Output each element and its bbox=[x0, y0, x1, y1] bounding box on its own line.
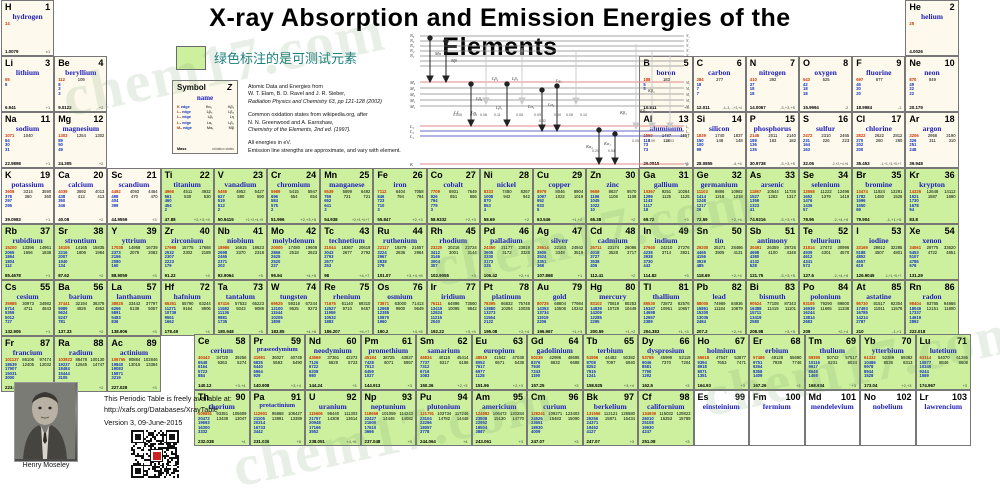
element-cell-tc[interactable]: Tc43technetium21044183672061930432677279… bbox=[320, 224, 373, 280]
element-name: magnesium bbox=[55, 124, 106, 133]
element-cell-ti[interactable]: Ti22titanium4966451149325615305304604542… bbox=[161, 168, 214, 224]
element-cell-bi[interactable]: Bi83bismuth90524771088734316388114191110… bbox=[746, 280, 799, 336]
element-cell-no[interactable]: No102nobelium bbox=[860, 390, 916, 446]
xray-energy-lines: 40443347203925665485363527461645723884 bbox=[198, 356, 247, 379]
xray-line-row: 1027 bbox=[365, 374, 414, 379]
oxidation-states: +3 bbox=[574, 383, 579, 388]
qr-module bbox=[169, 468, 171, 470]
element-symbol: Ta bbox=[218, 282, 228, 292]
atomic-mass: 51.996 bbox=[271, 217, 284, 222]
xray-energy-lines: 1265811222124961652137914191476143657 bbox=[803, 190, 849, 213]
atomic-number: 81 bbox=[679, 282, 689, 292]
xray-line-row: 1292 bbox=[642, 374, 691, 379]
element-name: neon bbox=[906, 68, 957, 77]
oxidation-states: +4 bbox=[463, 439, 468, 444]
atomic-mass: 44.9559 bbox=[111, 217, 127, 222]
atomic-mass: 174.967 bbox=[920, 383, 936, 388]
atomic-mass: 58.69 bbox=[484, 217, 495, 222]
element-cell-kr[interactable]: Kr36krypton14326126481411219211587169017… bbox=[905, 168, 958, 224]
oxidation-states: +2,+3,+4,+5 bbox=[246, 218, 263, 222]
xray-energy-lines: 9659863795701196110811081045102210 bbox=[590, 190, 636, 213]
qr-module bbox=[162, 472, 164, 474]
element-name: californium bbox=[639, 402, 693, 411]
element-cell-s[interactable]: S16sulfur24722310246523122622316416332.0… bbox=[799, 112, 852, 168]
element-symbol: Ag bbox=[537, 226, 549, 236]
energy-level-diagram: N₅N₄N₃ N₂N₁ M₅M₄M₃ M₂M₁ L₃L₂L₁ K MαMβ Lℓ… bbox=[408, 30, 698, 170]
xray-energy-lines: 31814274723099649394301457046124341573 bbox=[803, 246, 849, 269]
element-cell-pu[interactable]: Pu94plutonium121791103734117246231041478… bbox=[416, 390, 472, 446]
element-cell-bk[interactable]: Bk97berkelium131556112121126580252561587… bbox=[583, 390, 639, 446]
element-cell-ge[interactable]: Ge32germanium111039886109821414121812181… bbox=[693, 168, 746, 224]
svg-text:Kβ₃: Kβ₃ bbox=[619, 110, 627, 115]
element-cell-lu[interactable]: Lu71lutetium6331454070612861087788468608… bbox=[916, 334, 972, 390]
xray-line-row: 69 bbox=[856, 208, 902, 213]
element-cell-co[interactable]: Co27cobalt770969317649926851866794779358… bbox=[427, 168, 480, 224]
atomic-number: 87 bbox=[40, 338, 50, 348]
xray-energy-lines: 26711231742609540183528371737273538405 bbox=[590, 246, 636, 269]
xray-line-row: 134 bbox=[58, 264, 104, 269]
xray-energy-lines: 20000174801960828662518262326252520227 bbox=[271, 246, 317, 269]
availability-url[interactable]: http://xafs.org/Databases/XrayTable bbox=[104, 404, 274, 415]
svg-text:0.09: 0.09 bbox=[534, 113, 541, 117]
svg-text:K: K bbox=[685, 163, 689, 167]
element-cell-u[interactable]: U92uranium115606984401113032175714309136… bbox=[305, 390, 361, 446]
element-symbol: K bbox=[5, 170, 12, 180]
element-cell-li[interactable]: Li3lithium5556.941+1 bbox=[1, 56, 54, 112]
svg-text:Lα₁: Lα₁ bbox=[547, 102, 555, 107]
element-symbol: Ca bbox=[58, 170, 70, 180]
xray-line-row: 57 bbox=[803, 208, 849, 213]
atomic-number: 44 bbox=[413, 226, 423, 236]
element-cell-pd[interactable]: Pd46palladium243502117723819360531723328… bbox=[480, 224, 533, 280]
element-cell-ag[interactable]: Ag47silver255142216324942380633483519352… bbox=[533, 224, 586, 280]
element-cell-ga[interactable]: Ga31gallium10367925110264129911251125114… bbox=[639, 168, 692, 224]
qr-module bbox=[177, 476, 179, 478]
element-cell-cu[interactable]: Cu29copper897980468904109710221019952933… bbox=[533, 168, 586, 224]
oxidation-states: +2 bbox=[99, 161, 104, 166]
xray-energy-lines: 22117192792165732242836296429672838279 bbox=[377, 246, 423, 269]
element-symbol: Xe bbox=[909, 226, 920, 236]
element-cell-k[interactable]: K19potassium3608331435903783603602972953… bbox=[1, 168, 54, 224]
xray-line-row: 3105 bbox=[58, 376, 104, 381]
element-name: indium bbox=[640, 236, 691, 245]
element-cell-at[interactable]: At85astatine9573081517923041749311911115… bbox=[852, 280, 905, 336]
element-symbol: Mg bbox=[58, 114, 71, 124]
element-cell-ac[interactable]: Ac89actinium1067559088410284619840130151… bbox=[107, 336, 160, 392]
atomic-number: 24 bbox=[306, 170, 316, 180]
element-symbol: Tm bbox=[809, 336, 823, 346]
xray-line-row: 112 bbox=[5, 264, 51, 269]
atomic-mass: 95.94 bbox=[271, 273, 282, 278]
element-symbol: Na bbox=[5, 114, 17, 124]
element-cell-ta[interactable]: Ta73tantalum6741657532652231168293439088… bbox=[214, 280, 267, 336]
element-name: ruthenium bbox=[374, 236, 425, 245]
element-cell-lr[interactable]: Lr103lawrencium bbox=[916, 390, 972, 446]
element-cell-be[interactable]: Be4beryllium1121098339.0122+2 bbox=[54, 56, 107, 112]
element-cell-n[interactable]: N7nitrogen41039237181814.0067-3,+3,+5 bbox=[746, 56, 799, 112]
xray-energy-lines: 6741657532652231168293439088111369881173… bbox=[218, 302, 264, 325]
atomic-number: 82 bbox=[732, 282, 742, 292]
element-symbol: Fm bbox=[753, 392, 767, 402]
xray-energy-lines: 1217911037341172462310414782144482226618… bbox=[420, 412, 469, 435]
atomic-mass: 126.9045 bbox=[856, 273, 874, 278]
element-cell-eu[interactable]: Eu63europium4851941542470388052657164387… bbox=[472, 334, 528, 390]
element-symbol: Rb bbox=[5, 226, 17, 236]
element-name: actinium bbox=[108, 348, 159, 357]
element-cell-hg[interactable]: Hg80mercury83102708198025314839107291044… bbox=[586, 280, 639, 336]
xray-line-row: 676 bbox=[909, 264, 955, 269]
element-cell-pb[interactable]: Pb82lead88005749698493615861111841087915… bbox=[693, 280, 746, 336]
atomic-number: 68 bbox=[790, 336, 800, 346]
xray-energy-lines: 7611164896735601341910095984212824112152… bbox=[431, 302, 477, 325]
atomic-number: 23 bbox=[253, 170, 263, 180]
element-symbol: La bbox=[111, 282, 122, 292]
element-symbol: Sb bbox=[750, 226, 762, 236]
element-cell-fm[interactable]: Fm100fermium bbox=[749, 390, 805, 446]
element-cell-f[interactable]: F9fluorine69767745202018.9984-1 bbox=[852, 56, 905, 112]
atomic-mass: 55.847 bbox=[377, 217, 390, 222]
xray-energy-lines: 25 bbox=[909, 22, 955, 27]
element-cell-pr[interactable]: Pr59praseodymium419913602740749683555935… bbox=[250, 334, 306, 390]
atomic-number: 73 bbox=[253, 282, 263, 292]
oxidation-states: -2,+4,+6 bbox=[833, 217, 848, 222]
atomic-mass: 131.29 bbox=[909, 273, 922, 278]
atomic-mass: 14.0067 bbox=[750, 105, 766, 110]
oxidation-states: +4 bbox=[241, 439, 246, 444]
element-cell-o[interactable]: O8oxygen54352542181815.9994-2 bbox=[799, 56, 852, 112]
element-name: copper bbox=[534, 180, 585, 189]
oxidation-states: +3 bbox=[352, 383, 357, 388]
oxidation-states: +2,+3 bbox=[513, 383, 523, 388]
xray-energy-lines: 1156069844011130321757143091361420948171… bbox=[309, 412, 358, 435]
oxidation-states: +2 bbox=[631, 273, 636, 278]
oxidation-states: +3 bbox=[471, 273, 476, 278]
xray-line-row: 227 bbox=[271, 264, 317, 269]
atomic-number: 3 bbox=[45, 58, 50, 68]
atomic-number: 34 bbox=[838, 170, 848, 180]
atomic-number: 78 bbox=[519, 282, 529, 292]
atomic-number: 29 bbox=[572, 170, 582, 180]
atomic-mass: 83.8 bbox=[909, 217, 918, 222]
element-cell-pt[interactable]: Pt78platinum7839566832757481388010294100… bbox=[480, 280, 533, 336]
element-cell-br[interactable]: Br35bromine13474119241329117821480152615… bbox=[852, 168, 905, 224]
element-symbol: Re bbox=[324, 282, 336, 292]
element-symbol: Np bbox=[365, 392, 377, 402]
xray-energy-lines: 1282411092711234032452615483150902365118… bbox=[531, 412, 580, 435]
element-cell-si[interactable]: Si14silicon1839174018371501481481009928.… bbox=[693, 112, 746, 168]
xray-energy-lines: 6539589964927697217216526413 bbox=[324, 190, 370, 213]
atomic-number: 72 bbox=[200, 282, 210, 292]
atomic-number: 76 bbox=[413, 282, 423, 292]
atomic-number: 48 bbox=[625, 226, 635, 236]
atomic-number: 37 bbox=[40, 226, 50, 236]
oxidation-states: +2,+4 bbox=[732, 217, 742, 222]
testable-elements-note: 绿色标注的是可测试元素 bbox=[214, 48, 357, 67]
element-cell-gd[interactable]: Gd64gadolinium50239429964869583766832668… bbox=[527, 334, 583, 390]
atomic-mass: 18.9984 bbox=[856, 105, 872, 110]
xray-energy-lines: 1249821064721202842380815130147702295218… bbox=[476, 412, 525, 435]
xray-line-row: 25 bbox=[909, 22, 955, 27]
atomic-mass: 91.22 bbox=[165, 273, 176, 278]
element-name: nickel bbox=[481, 180, 532, 189]
element-cell-ce[interactable]: Ce58cerium404433472039256654853635274616… bbox=[194, 334, 250, 390]
oxidation-states: +5 bbox=[258, 273, 263, 278]
xray-energy-lines: 8072568804779841435310508102421373411919… bbox=[537, 302, 583, 325]
atomic-number: 36 bbox=[945, 170, 955, 180]
atomic-number: 85 bbox=[891, 282, 901, 292]
element-cell-cm[interactable]: Cm96curium128241109271123403245261548315… bbox=[527, 390, 583, 446]
element-symbol: Pt bbox=[484, 282, 493, 292]
oxidation-states: +2,+3,+6 bbox=[300, 217, 316, 222]
atomic-number: 56 bbox=[93, 282, 103, 292]
element-cell-nd[interactable]: Nd60neodymium435693736142272712658295723… bbox=[305, 334, 361, 390]
element-cell-p[interactable]: P15phosphorus214620112140189183182136135… bbox=[746, 112, 799, 168]
element-cell-es[interactable]: Es99einsteinium bbox=[694, 390, 750, 446]
element-cell-po[interactable]: Po84polonium9310579290898001693911665113… bbox=[799, 280, 852, 336]
atomic-mass: 40.08 bbox=[58, 217, 69, 222]
atomic-number: 50 bbox=[732, 226, 742, 236]
svg-text:N₁: N₁ bbox=[409, 53, 415, 58]
element-cell-ho[interactable]: Ho67holmium55618475475387793947653747189… bbox=[694, 334, 750, 390]
xray-energy-lines: 5939050742575171011682318024961786481468 bbox=[809, 356, 858, 379]
element-symbol: Tc bbox=[324, 226, 334, 236]
element-cell-tm[interactable]: Tm69thulium59390507425751710116823180249… bbox=[805, 334, 861, 390]
element-cell-cl[interactable]: Cl17chlorine2822262228122702602602022003… bbox=[852, 112, 905, 168]
element-cell-sr[interactable]: Sr38strontium161051416515835221618061984… bbox=[54, 224, 107, 280]
svg-text:L₂: L₂ bbox=[685, 130, 690, 134]
element-symbol: Mn bbox=[324, 170, 337, 180]
xray-line-row: 3 bbox=[58, 92, 104, 97]
element-name: promethium bbox=[362, 346, 416, 355]
atomic-number: 67 bbox=[735, 336, 745, 346]
oxidation-states: +1 bbox=[46, 329, 51, 334]
element-name: rhodium bbox=[428, 236, 479, 245]
oxidation-states: +3 bbox=[152, 385, 157, 390]
element-cell-h[interactable]: H1hydrogen141.0079±1 bbox=[1, 0, 54, 56]
element-symbol: U bbox=[309, 392, 316, 402]
element-cell-rh[interactable]: Rh45rhodium23220202162272434123001314431… bbox=[427, 224, 480, 280]
element-cell-nb[interactable]: Nb41niobium18986166151862326982370231824… bbox=[214, 224, 267, 280]
xray-line-row: 29 bbox=[697, 208, 743, 213]
element-cell-dy[interactable]: Dy66dysprosium53789459995211990467370720… bbox=[638, 334, 694, 390]
xray-line-row: 279 bbox=[377, 264, 423, 269]
element-symbol: Tb bbox=[587, 336, 598, 346]
element-cell-w[interactable]: W74tungsten69525593186724412100952592731… bbox=[267, 280, 320, 336]
element-cell-te[interactable]: Te52tellurium318142747230996493943014570… bbox=[799, 224, 852, 280]
element-cell-v[interactable]: V23vanadium54654952542762759059051951225… bbox=[214, 168, 267, 224]
element-name: argon bbox=[906, 124, 957, 133]
element-cell-md[interactable]: Md101mendelevium bbox=[805, 390, 861, 446]
element-symbol: Ir bbox=[431, 282, 437, 292]
element-name: tin bbox=[694, 236, 745, 245]
element-cell-cd[interactable]: Cd48cadmium26711231742609540183528371737… bbox=[586, 224, 639, 280]
xray-energy-lines: 14 bbox=[5, 22, 51, 27]
element-symbol: I bbox=[856, 226, 859, 236]
element-cell-sm[interactable]: Sm62samarium4683440118454147737631761967… bbox=[416, 334, 472, 390]
element-cell-rb[interactable]: Rb37rubidium1520013396149612065169418361… bbox=[1, 224, 54, 280]
element-name: iodine bbox=[853, 236, 904, 245]
element-cell-se[interactable]: Se34selenium1265811222124961652137914191… bbox=[799, 168, 852, 224]
xray-line-row: 405 bbox=[590, 264, 636, 269]
atomic-number: 95 bbox=[513, 392, 523, 402]
element-cell-hf[interactable]: Hf72hafnium65351557906324411271916489061… bbox=[161, 280, 214, 336]
element-name: gadolinium bbox=[528, 346, 582, 355]
element-symbol: Br bbox=[856, 170, 866, 180]
xray-energy-lines: 38925334423779762665138505758915483836 bbox=[111, 302, 157, 325]
element-symbol: Gd bbox=[531, 336, 544, 346]
element-cell-sn[interactable]: Sn50tin292002527128486446539054131415639… bbox=[693, 224, 746, 280]
xray-line-row: 135 bbox=[750, 148, 796, 153]
oxidation-states: +2,+4 bbox=[732, 273, 742, 278]
atomic-mass: 74.9216 bbox=[750, 217, 766, 222]
element-cell-ne[interactable]: Ne10neon87084949222220.179 bbox=[905, 56, 958, 112]
element-cell-re[interactable]: Re75rhenium71676611406931012527971094571… bbox=[320, 280, 373, 336]
element-symbol: Cd bbox=[590, 226, 602, 236]
oxidation-states: +2,+3,+4,+7 bbox=[352, 218, 369, 222]
atomic-number: 11 bbox=[41, 114, 51, 124]
xray-energy-lines: 451843872543827742860715957701364591027 bbox=[365, 356, 414, 379]
element-cell-he[interactable]: He2helium254.0026 bbox=[905, 0, 958, 56]
oxidation-states: +2,+3 bbox=[412, 217, 422, 222]
atomic-mass: 140.908 bbox=[254, 383, 270, 388]
element-cell-cr[interactable]: Cr24chromium5989541559476966546545845752… bbox=[267, 168, 320, 224]
element-cell-mo[interactable]: Mo42molybdenum20000174801960828662518262… bbox=[267, 224, 320, 280]
element-name: technetium bbox=[321, 236, 372, 245]
element-cell-am[interactable]: Am95americium124982106472120284238081513… bbox=[472, 390, 528, 446]
element-name: arsenic bbox=[747, 180, 798, 189]
element-cell-as[interactable]: As33arsenic11867105441172615271282131713… bbox=[746, 168, 799, 224]
element-cell-zn[interactable]: Zn30zinc96598637957011961108110810451022… bbox=[586, 168, 639, 224]
element-symbol: Co bbox=[431, 170, 443, 180]
oxidation-states: +2,+3 bbox=[466, 217, 476, 222]
element-cell-na[interactable]: Na11sodium1071104064303122.9898+1 bbox=[1, 112, 54, 168]
atomic-mass: 102.9055 bbox=[431, 273, 449, 278]
element-cell-tb[interactable]: Tb65terbium51996444825038287087097694082… bbox=[583, 334, 639, 390]
element-cell-ru[interactable]: Ru44ruthenium221171927921657322428362964… bbox=[373, 224, 426, 280]
svg-text:Lβ₁: Lβ₁ bbox=[495, 105, 503, 110]
element-cell-xe[interactable]: Xe54xenon3456129775336205453472248515107… bbox=[905, 224, 958, 280]
element-cell-er[interactable]: Er68erbium574864912855690975179397746926… bbox=[749, 334, 805, 390]
element-cell-tl[interactable]: Tl81thallium8553072872825761534710951106… bbox=[639, 280, 692, 336]
xray-energy-lines: 9052477108873431638811419111011571113419… bbox=[750, 302, 796, 325]
xray-line-row: 1241 bbox=[587, 374, 636, 379]
element-name: curium bbox=[528, 402, 582, 411]
xray-energy-lines: 18391740183715014814810099 bbox=[697, 134, 743, 152]
atomic-mass: 150.36 bbox=[420, 383, 433, 388]
element-cell-pm[interactable]: Pm61promethium45184387254382774286071595… bbox=[361, 334, 417, 390]
element-cell-c[interactable]: C6carbon284277187712.011-4,-3,...,+3,+4 bbox=[693, 56, 746, 112]
xray-line-row: 2 bbox=[271, 208, 317, 213]
xray-line-row: 4009 bbox=[531, 430, 580, 435]
element-symbol: Fe bbox=[377, 170, 388, 180]
atomic-mass: 85.4678 bbox=[5, 273, 21, 278]
xray-energy-lines: 1347411924132911782148015261596155069 bbox=[856, 190, 902, 213]
element-name: vanadium bbox=[215, 180, 266, 189]
element-cell-fe[interactable]: Fe26iron711264047058846794794723710355.8… bbox=[373, 168, 426, 224]
atomic-number: 70 bbox=[901, 336, 911, 346]
atomic-number: 39 bbox=[147, 226, 157, 236]
atomic-number: 65 bbox=[624, 336, 634, 346]
element-name: lead bbox=[694, 292, 745, 301]
oxidation-states: +1 bbox=[46, 105, 51, 110]
qr-module bbox=[158, 476, 160, 478]
atomic-number: 16 bbox=[838, 114, 848, 124]
element-cell-mn[interactable]: Mn25manganese653958996492769721721652641… bbox=[320, 168, 373, 224]
element-cell-rn[interactable]: Rn86radon9840483785948661804912151118001… bbox=[905, 280, 958, 336]
xray-energy-lines: 25514221632494238063348351935243351368 bbox=[537, 246, 583, 269]
element-cell-sb[interactable]: Sb51antimony3049126359297264698410043484… bbox=[746, 224, 799, 280]
atomic-number: 88 bbox=[93, 338, 103, 348]
atomic-mass: 39.948 bbox=[909, 161, 922, 166]
element-cell-ni[interactable]: Ni28nickel833374808267100894294287085345… bbox=[480, 168, 533, 224]
xray-line-row: 1128 bbox=[476, 374, 525, 379]
qr-code[interactable] bbox=[131, 430, 179, 478]
element-cell-y[interactable]: Y39yttrium170381495816739237320792082215… bbox=[107, 224, 160, 280]
oxidation-states: +2,+3,+4 bbox=[194, 217, 210, 222]
xray-energy-lines: 24350211772381936053172332833303173335 bbox=[484, 246, 530, 269]
element-cell-ca[interactable]: Ca20calcium40393692401343841341335034640… bbox=[54, 168, 107, 224]
element-name: germanium bbox=[694, 180, 745, 189]
oxidation-states: +3 bbox=[685, 383, 690, 388]
xray-line-row: 1589 bbox=[920, 374, 969, 379]
element-name: niobium bbox=[215, 236, 266, 245]
element-name: selenium bbox=[800, 180, 851, 189]
atomic-mass: 98 bbox=[324, 273, 329, 278]
atomic-mass: 140.12 bbox=[198, 383, 211, 388]
element-cell-cf[interactable]: Cf98californium1349391150321298232601016… bbox=[638, 390, 694, 446]
atomic-mass: 164.93 bbox=[698, 383, 711, 388]
element-cell-ar[interactable]: Ar18argon32062958319032631131025124839.9… bbox=[905, 112, 958, 168]
element-cell-mg[interactable]: Mg12magnesium13031254130289504924.305+2 bbox=[54, 112, 107, 168]
element-cell-in[interactable]: In49indium279402421027276423837143921393… bbox=[639, 224, 692, 280]
element-cell-ba[interactable]: Ba56barium374413219436378598949264852562… bbox=[54, 280, 107, 336]
xray-energy-lines: 555 bbox=[5, 78, 51, 87]
element-cell-sc[interactable]: Sc21scandium4492409344644984704704043994… bbox=[107, 168, 160, 224]
oxidation-states: +3 bbox=[518, 439, 523, 444]
element-cell-os[interactable]: Os76osmium738716300071413129689900964912… bbox=[373, 280, 426, 336]
element-cell-la[interactable]: La57lanthanum389253344237797626651385057… bbox=[107, 280, 160, 336]
element-name: erbium bbox=[750, 346, 804, 355]
xray-line-row: 1809 bbox=[271, 320, 317, 325]
element-cell-zr[interactable]: Zr40zirconium179981577517668253223022189… bbox=[161, 224, 214, 280]
element-symbol: Ce bbox=[198, 336, 210, 346]
element-name: americium bbox=[473, 402, 527, 411]
xray-line-row: 18 bbox=[750, 92, 796, 97]
qr-module bbox=[148, 468, 150, 470]
svg-text:0.50: 0.50 bbox=[554, 113, 561, 117]
xray-energy-lines: 403936924013438413413350346 bbox=[58, 190, 104, 208]
element-cell-cs[interactable]: Cs55cesium359853097334982571447114643535… bbox=[1, 280, 54, 336]
element-cell-ir[interactable]: Ir77iridium76111648967356013419100959842… bbox=[427, 280, 480, 336]
element-name: terbium bbox=[584, 346, 638, 355]
xray-line-row: 399 bbox=[111, 204, 157, 209]
xray-line-row: 253 bbox=[324, 264, 370, 269]
element-cell-np[interactable]: Np93neptunium118669101059114243224271444… bbox=[361, 390, 417, 446]
element-cell-yb[interactable]: Yb70ytterbium613325238959382104868536831… bbox=[860, 334, 916, 390]
element-cell-i[interactable]: I53iodine3316928612322955188450748014852… bbox=[852, 224, 905, 280]
atomic-number: 10 bbox=[945, 58, 955, 68]
element-name: silver bbox=[534, 236, 585, 245]
xray-energy-lines: 543525421818 bbox=[803, 78, 849, 96]
xray-energy-lines: 7839566832757481388010294100381327311564… bbox=[484, 302, 530, 325]
xray-energy-lines: 5989541559476966546545845752 bbox=[271, 190, 317, 213]
citation-line: Radiation Physics and Chemistry 63, pp 1… bbox=[248, 99, 423, 106]
qr-module bbox=[160, 474, 162, 476]
xray-energy-lines: 502394299648695837668326688793072431190 bbox=[531, 356, 580, 379]
element-cell-au[interactable]: Au79gold80725688047798414353105081024213… bbox=[533, 280, 586, 336]
qr-module bbox=[146, 436, 148, 438]
element-name: fermium bbox=[750, 402, 804, 411]
